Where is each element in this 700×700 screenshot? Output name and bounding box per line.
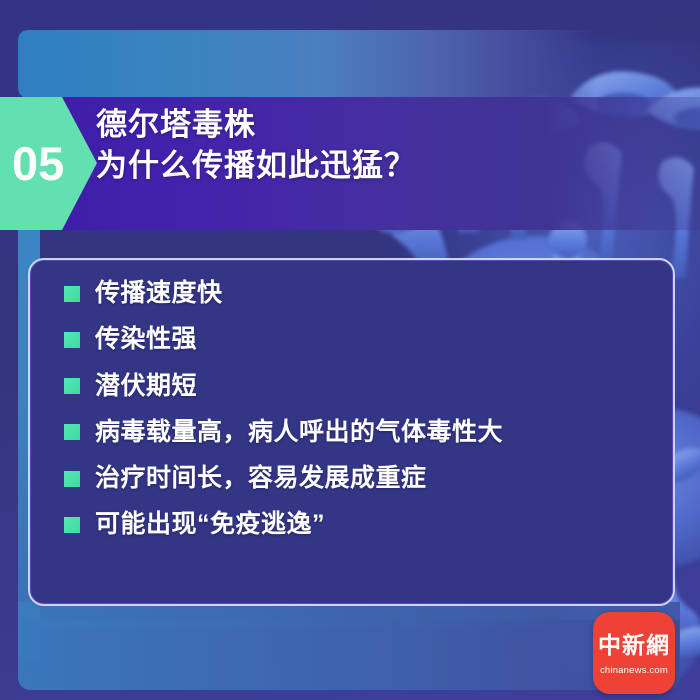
bullet-square-icon (64, 286, 80, 302)
list-item: 可能出现“免疫逃逸” (64, 509, 659, 540)
list-item: 病毒载量高，病人呼出的气体毒性大 (64, 417, 659, 448)
list-item-label: 病毒载量高，病人呼出的气体毒性大 (95, 417, 503, 448)
list-item-label: 潜伏期短 (95, 371, 197, 402)
list-item-label: 治疗时间长，容易发展成重症 (95, 463, 427, 494)
list-item-label: 传播速度快 (95, 278, 223, 309)
section-number: 05 (12, 140, 64, 187)
page-title: 德尔塔毒株 为什么传播如此迅猛？ (96, 104, 656, 186)
bullet-square-icon (64, 517, 80, 533)
list-item: 传播速度快 (64, 278, 659, 309)
chinanews-logo: 中新網 chinanews.com (593, 612, 675, 694)
bullet-square-icon (64, 378, 80, 394)
bullet-square-icon (64, 332, 80, 348)
bottom-accent-band (18, 620, 680, 690)
list-item-label: 传染性强 (95, 324, 197, 355)
list-item: 传染性强 (64, 324, 659, 355)
bullet-square-icon (64, 424, 80, 440)
bullet-list: 传播速度快 传染性强 潜伏期短 病毒载量高，病人呼出的气体毒性大 治疗时间长，容… (64, 278, 659, 541)
content-card: 传播速度快 传染性强 潜伏期短 病毒载量高，病人呼出的气体毒性大 治疗时间长，容… (28, 258, 675, 606)
page-title-line-1: 德尔塔毒株 (96, 104, 656, 145)
list-item: 潜伏期短 (64, 371, 659, 402)
poster-root: 05 德尔塔毒株 为什么传播如此迅猛？ 传播速度快 传染性强 潜伏期短 病毒载量… (0, 0, 700, 700)
logo-url: chinanews.com (600, 665, 668, 676)
top-accent-band (18, 30, 596, 98)
logo-wordmark: 中新網 (598, 635, 670, 658)
list-item-label: 可能出现“免疫逃逸” (95, 509, 325, 540)
page-title-line-2: 为什么传播如此迅猛？ (96, 145, 656, 186)
bullet-square-icon (64, 471, 80, 487)
list-item: 治疗时间长，容易发展成重症 (64, 463, 659, 494)
